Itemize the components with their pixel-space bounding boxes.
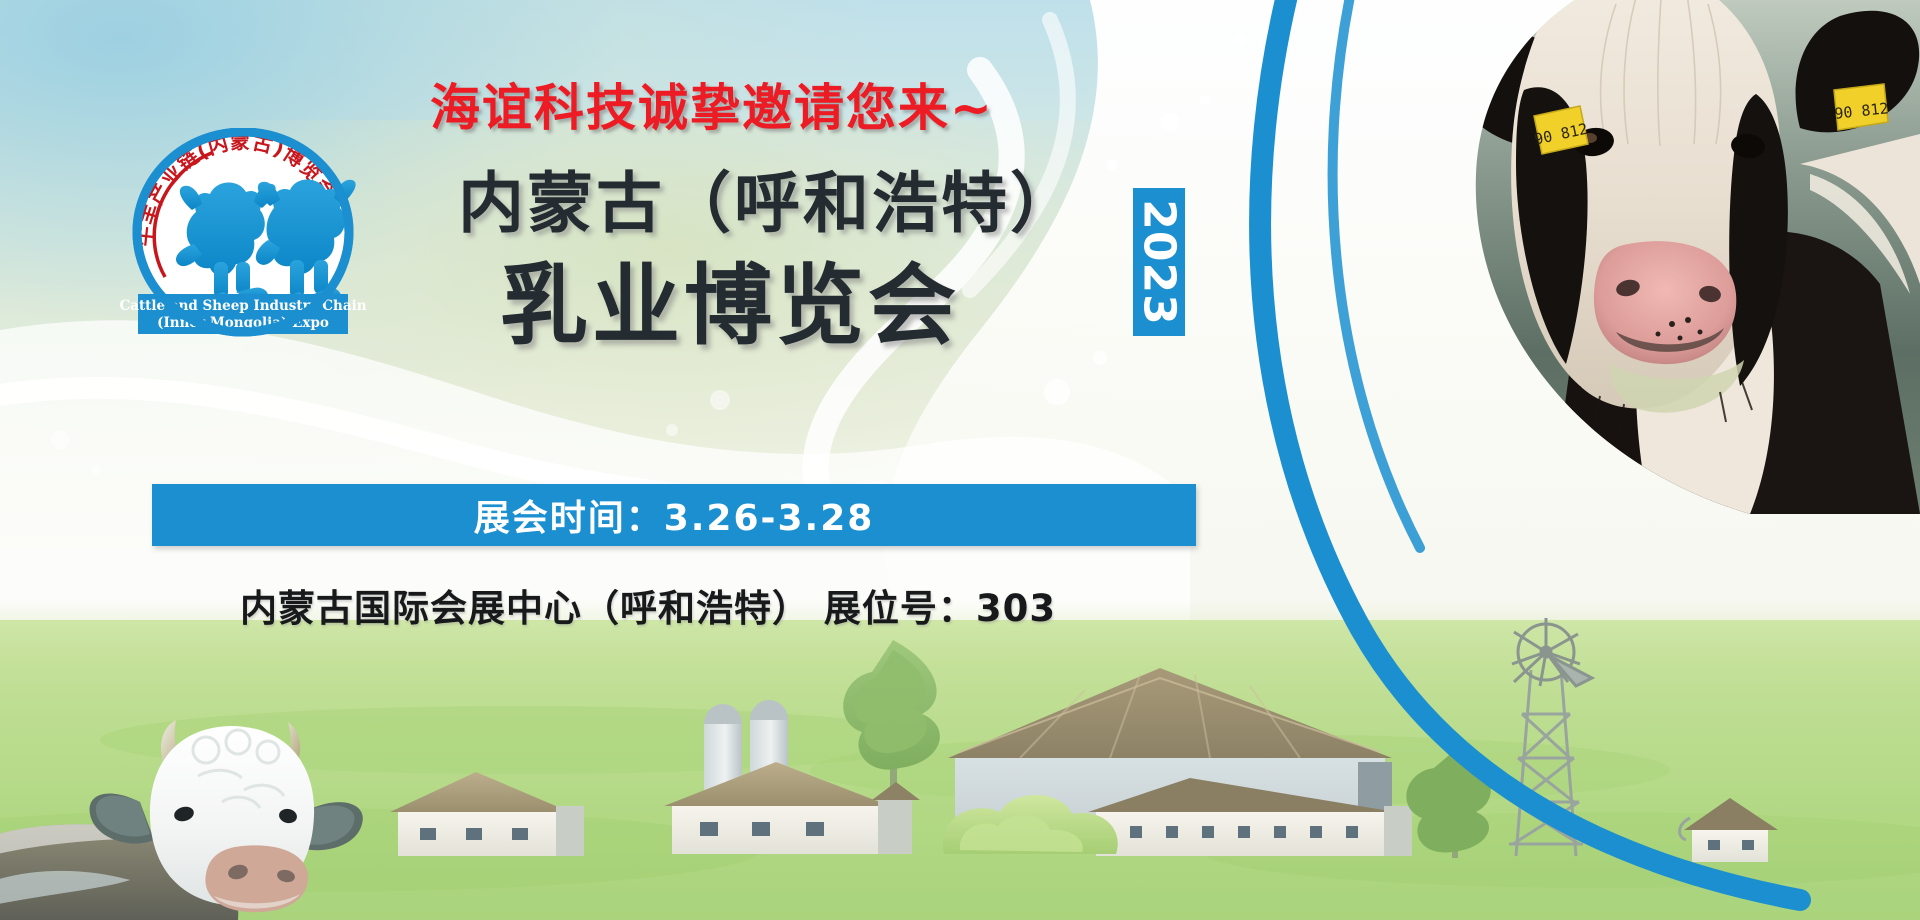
year-badge: 2023: [1133, 188, 1185, 336]
white-cow-illustration: [0, 690, 410, 920]
date-bar: 展会时间：3.26-3.28: [152, 484, 1196, 546]
expo-logo: 牛羊产业链(内蒙古)博览会: [118, 128, 368, 344]
invite-headline: 海谊科技诚挚邀请您来~: [430, 68, 994, 140]
expo-banner: 90 812 90 812: [0, 0, 1920, 920]
dairy-cow-photo: 90 812 90 812: [1280, 0, 1920, 514]
title-line-2: 乳业博览会: [500, 235, 960, 362]
date-bar-text: 展会时间：3.26-3.28: [474, 489, 875, 541]
year-badge-text: 2023: [1134, 199, 1185, 325]
ear-tag-right: 90 812: [1834, 84, 1890, 130]
logo-english-line1: Cattle and Sheep Industry Chain: [119, 298, 366, 314]
title-line-1: 内蒙古（呼和浩特）: [458, 150, 1079, 246]
venue-and-booth-line: 内蒙古国际会展中心（呼和浩特） 展位号：303: [240, 578, 1056, 632]
